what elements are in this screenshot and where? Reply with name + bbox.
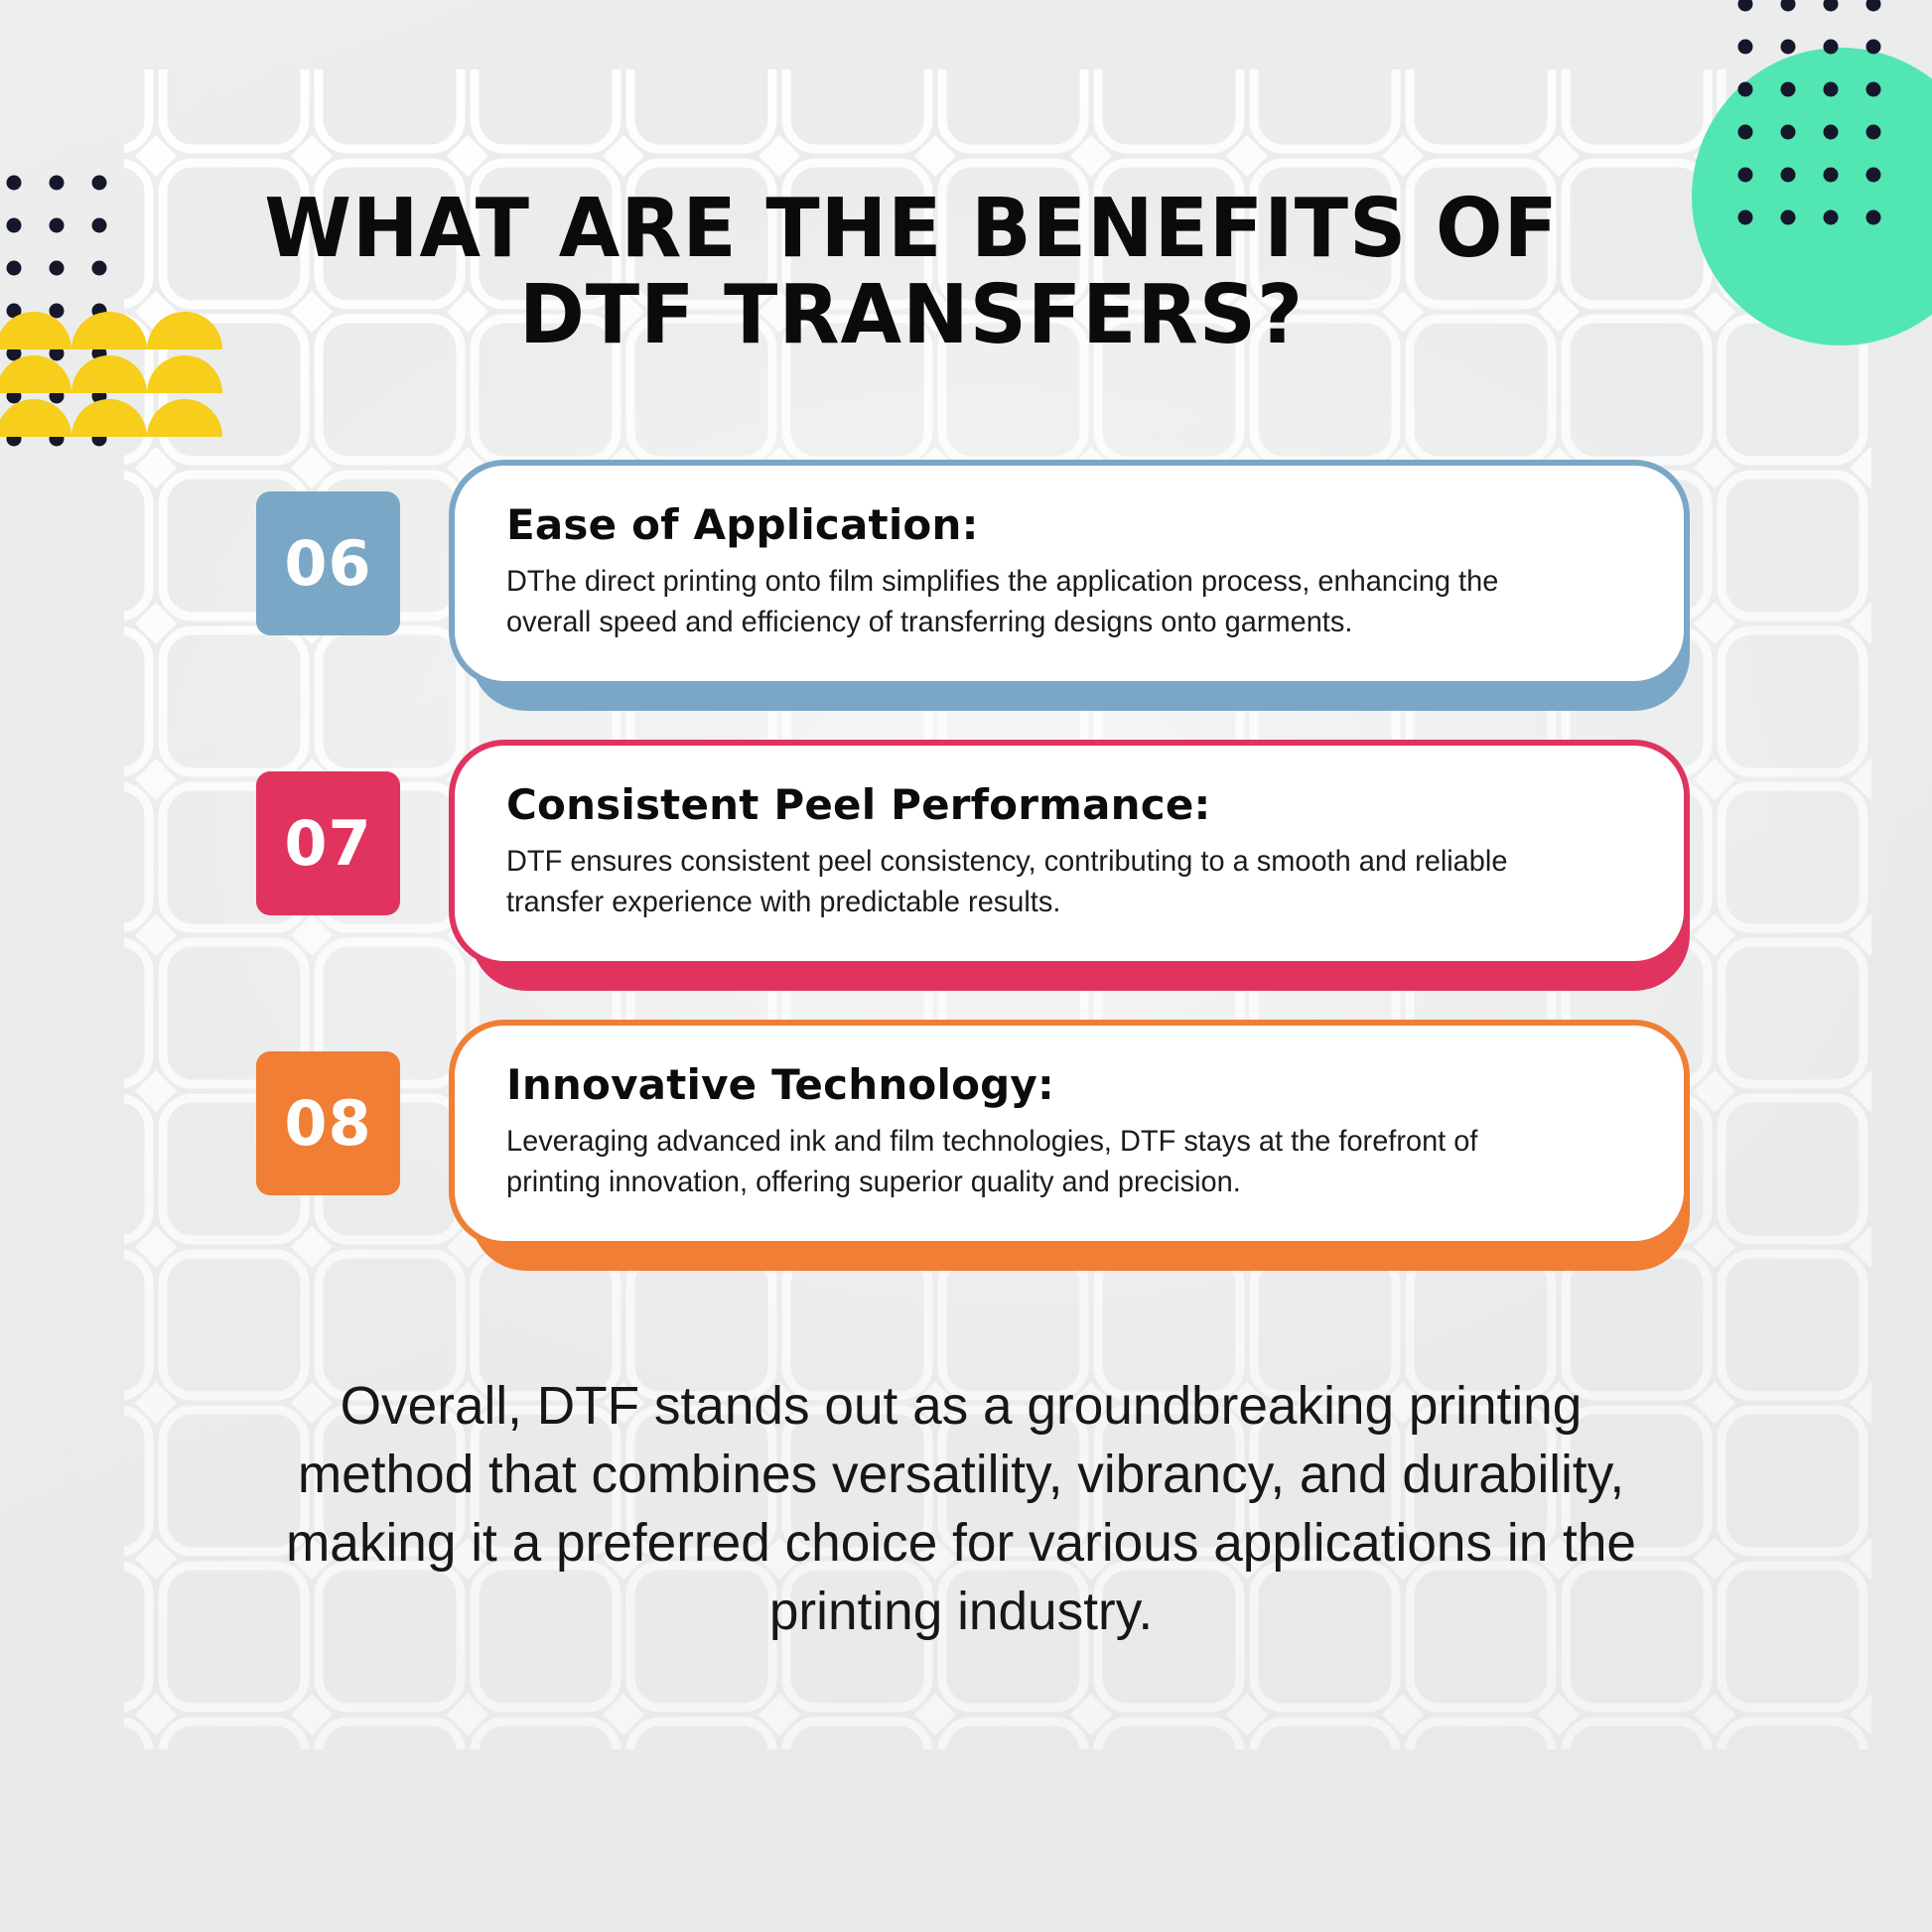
benefit-number-label: 07 — [284, 807, 371, 880]
benefit-card-07: Consistent Peel Performance: DTF ensures… — [449, 740, 1690, 967]
benefit-number-badge-06: 06 — [256, 491, 400, 635]
benefit-card-wrapper-08: Innovative Technology: Leveraging advanc… — [449, 1020, 1690, 1247]
benefit-card-06: Ease of Application: DThe direct printin… — [449, 460, 1690, 687]
benefit-title: Innovative Technology: — [506, 1061, 1632, 1108]
benefit-number-badge-08: 08 — [256, 1051, 400, 1195]
benefit-card-wrapper-07: Consistent Peel Performance: DTF ensures… — [449, 740, 1690, 967]
benefit-number-label: 06 — [284, 527, 371, 600]
page-title: WHAT ARE THE BENEFITS OF DTF TRANSFERS? — [247, 187, 1577, 359]
dot-grid-left-decoration — [0, 169, 191, 467]
benefit-row-06: 06 Ease of Application: DThe direct prin… — [0, 452, 1932, 702]
dot-grid-topright-decoration — [1724, 0, 1932, 290]
benefit-body: DThe direct printing onto film simplifie… — [506, 562, 1551, 643]
mint-circle-decoration — [1692, 48, 1932, 345]
benefit-row-08: 08 Innovative Technology: Leveraging adv… — [0, 1012, 1932, 1262]
benefit-card-wrapper-06: Ease of Application: DThe direct printin… — [449, 460, 1690, 687]
benefit-title: Consistent Peel Performance: — [506, 781, 1632, 828]
benefit-card-08: Innovative Technology: Leveraging advanc… — [449, 1020, 1690, 1247]
benefit-title: Ease of Application: — [506, 501, 1632, 548]
benefits-list: 06 Ease of Application: DThe direct prin… — [0, 452, 1932, 1292]
benefit-body: DTF ensures consistent peel consistency,… — [506, 842, 1551, 923]
benefit-row-07: 07 Consistent Peel Performance: DTF ensu… — [0, 732, 1932, 982]
summary-paragraph: Overall, DTF stands out as a groundbreak… — [247, 1372, 1675, 1646]
benefit-number-badge-07: 07 — [256, 771, 400, 915]
benefit-body: Leveraging advanced ink and film technol… — [506, 1122, 1551, 1203]
benefit-number-label: 08 — [284, 1087, 371, 1160]
